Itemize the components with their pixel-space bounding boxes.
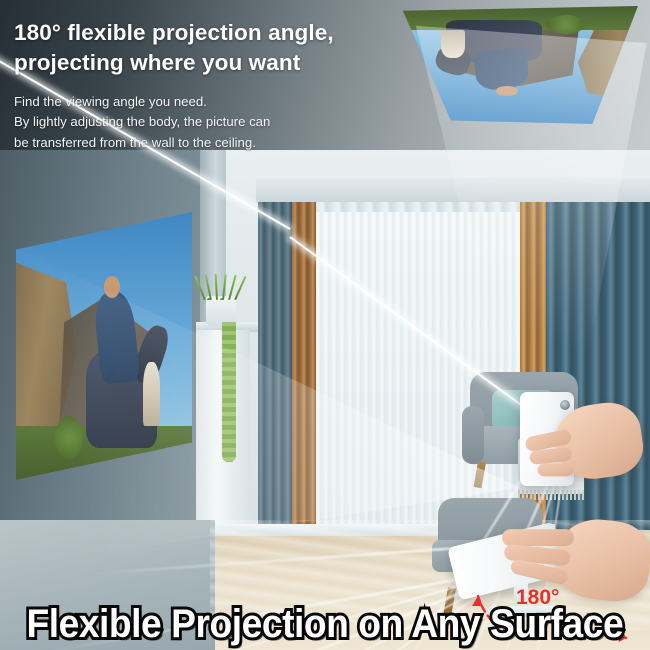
curtain-wood-left [292,196,318,571]
header-body-text: Find the viewing angle you need. By ligh… [14,92,334,153]
product-image-stage: 180° 180° flexible projection angle, pro… [0,0,650,650]
ceiling-soffit [256,178,650,202]
projector-lens-icon [560,400,570,410]
page-title: 180° flexible projection angle, projecti… [14,18,334,78]
finger [538,463,574,476]
angle-arc-graphic [470,578,650,644]
body-line: be transferred from the wall to the ceil… [14,133,334,153]
body-line: By lightly adjusting the body, the pictu… [14,112,334,132]
projected-game-scene [16,212,192,480]
scene-npc [441,30,465,58]
scene-npc [143,362,161,426]
header-block: 180° flexible projection angle, projecti… [14,18,334,153]
body-line: Find the viewing angle you need. [14,92,334,112]
finger [529,447,572,465]
floor-left-shadow [0,520,215,650]
grass-plant [200,270,244,300]
trailing-vine [222,322,236,462]
armchair-leg-left [474,461,486,488]
armchair-arm [462,406,484,464]
curtain-slate [258,196,294,571]
scene-shrub [55,416,83,459]
angle-label: 180° [516,586,559,610]
scene-rider-head [496,86,518,95]
wall-projection-image [16,212,192,480]
scene-rider-head [104,276,120,297]
